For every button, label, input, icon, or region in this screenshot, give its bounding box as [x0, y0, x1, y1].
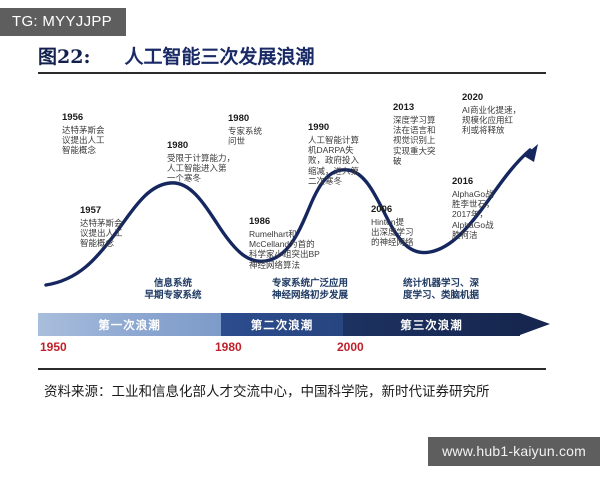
caption-line: 信息系统 [108, 278, 238, 290]
annotation-line: McCelland为首的 [249, 239, 341, 249]
timeline-arrow-icon [520, 313, 550, 335]
annotation-2016: 2016 AlphaGo战 胜李世石， 2017年， AlphaGo战 胜柯洁 [452, 176, 514, 240]
annotation-line: 胜李世石， [452, 199, 514, 209]
annotation-1990: 1990 人工智能计算 机DARPA失 败，政府投入 缩减，进入第 二次寒冬 [308, 122, 380, 186]
annotation-line: 出深度学习 [371, 227, 435, 237]
annotation-line: 败，政府投入 [308, 155, 380, 165]
annotation-1980-winter: 1980 受限于计算能力， 人工智能进入第 一个寒冬 [167, 140, 253, 184]
annotation-year: 1957 [80, 205, 152, 217]
timeline-chart: 1956 达特茅斯会 议提出人工 智能概念 1957 达特茅斯会 议提出人工 智… [38, 80, 550, 295]
annotation-year: 2016 [452, 176, 514, 188]
annotation-1957: 1957 达特茅斯会 议提出人工 智能概念 [80, 205, 152, 249]
annotation-line: 机DARPA失 [308, 145, 380, 155]
annotation-line: Rumelhart和 [249, 229, 341, 239]
annotation-2020: 2020 AI商业化提速， 规模化应用红 利或将释放 [462, 92, 538, 136]
annotation-2006: 2006 Hinton提 出深度学习 的神经网络 [371, 204, 435, 248]
annotation-line: 2017年， [452, 209, 514, 219]
site-watermark-tag: www.hub1-kaiyun.com [428, 437, 600, 466]
page-title: 人工智能三次发展浪潮 [124, 42, 314, 69]
annotation-line: 智能概念 [62, 145, 134, 155]
annotation-year: 2013 [393, 102, 455, 114]
annotation-line: 议提出人工 [62, 135, 134, 145]
figure-page: TG: MYYJJPP 图22: 人工智能三次发展浪潮 1956 达特茅斯会 议… [0, 0, 600, 480]
tg-watermark-tag: TG: MYYJJPP [0, 8, 126, 36]
wave-caption-2: 专家系统广泛应用 神经网络初步发展 [240, 278, 380, 302]
annotation-line: 神经网络算法 [249, 260, 341, 270]
annotation-line: 实现重大突 [393, 146, 455, 156]
annotation-line: AI商业化提速， [462, 105, 538, 115]
annotation-2013: 2013 深度学习算 法在语言和 视觉识别上 实现重大突 破 [393, 102, 455, 166]
annotation-line: AlphaGo战 [452, 220, 514, 230]
wave-segment-2: 第二次浪潮 [221, 313, 343, 336]
annotation-year: 2020 [462, 92, 538, 104]
annotation-line: 深度学习算 [393, 115, 455, 125]
figure-number: 图22: [38, 42, 90, 69]
wave-timeline-bar: 第一次浪潮 第二次浪潮 第三次浪潮 [38, 313, 550, 336]
annotation-year: 1956 [62, 112, 134, 124]
annotation-line: 达特茅斯会 [62, 125, 134, 135]
caption-line: 神经网络初步发展 [240, 290, 380, 302]
annotation-line: 视觉识别上 [393, 135, 455, 145]
annotation-line: 人工智能计算 [308, 135, 380, 145]
annotation-line: 利或将释放 [462, 125, 538, 135]
annotation-line: 胜柯洁 [452, 230, 514, 240]
wave-caption-3: 统计机器学习、深 度学习、类脑机据 [383, 278, 499, 302]
caption-line: 早期专家系统 [108, 290, 238, 302]
annotation-year: 1990 [308, 122, 380, 134]
annotation-line: 受限于计算能力， [167, 153, 253, 163]
wave-segment-3: 第三次浪潮 [343, 313, 520, 336]
year-tick-1950: 1950 [40, 340, 67, 354]
annotation-line: 一个寒冬 [167, 173, 253, 183]
annotation-line: 人工智能进入第 [167, 163, 253, 173]
wave-caption-1: 信息系统 早期专家系统 [108, 278, 238, 302]
annotation-line: 的神经网络 [371, 237, 435, 247]
annotation-line: 专家系统 [228, 126, 296, 136]
annotation-year: 1980 [228, 113, 296, 125]
annotation-line: AlphaGo战 [452, 189, 514, 199]
annotation-year: 2006 [371, 204, 435, 216]
annotation-line: 问世 [228, 136, 296, 146]
annotation-line: 缩减，进入第 [308, 166, 380, 176]
header-divider [38, 72, 546, 74]
annotation-line: 破 [393, 156, 455, 166]
annotation-1986: 1986 Rumelhart和 McCelland为首的 科学家小组突出BP 神… [249, 216, 341, 270]
caption-line: 统计机器学习、深 [383, 278, 499, 290]
wave-segment-1: 第一次浪潮 [38, 313, 221, 336]
year-tick-2000: 2000 [337, 340, 364, 354]
annotation-line: 议提出人工 [80, 228, 152, 238]
figure-header: 图22: 人工智能三次发展浪潮 [38, 42, 558, 69]
annotation-year: 1986 [249, 216, 341, 228]
source-note: 资料来源：工业和信息化部人才交流中心，中国科学院，新时代证券研究所 [44, 380, 544, 405]
annotation-line: 科学家小组突出BP [249, 249, 341, 259]
annotation-line: 法在语言和 [393, 125, 455, 135]
annotation-line: 达特茅斯会 [80, 218, 152, 228]
caption-line: 度学习、类脑机据 [383, 290, 499, 302]
annotation-line: 二次寒冬 [308, 176, 380, 186]
annotation-line: 规模化应用红 [462, 115, 538, 125]
annotation-1980-expert: 1980 专家系统 问世 [228, 113, 296, 146]
annotation-line: 智能概念 [80, 238, 152, 248]
footer-divider [38, 368, 546, 370]
year-tick-1980: 1980 [215, 340, 242, 354]
annotation-1956: 1956 达特茅斯会 议提出人工 智能概念 [62, 112, 134, 156]
annotation-line: Hinton提 [371, 217, 435, 227]
caption-line: 专家系统广泛应用 [240, 278, 380, 290]
